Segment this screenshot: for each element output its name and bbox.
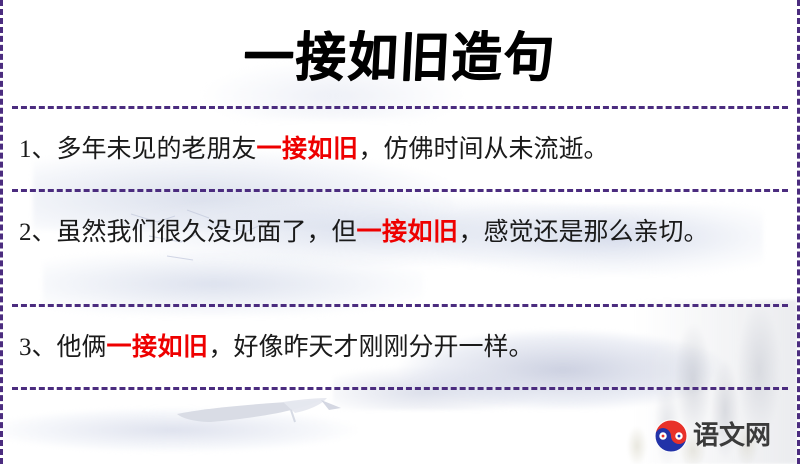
list-item: 3、他俩一接如旧，好像昨天才刚刚分开一样。	[3, 307, 797, 387]
divider-after-sentence-1	[12, 189, 788, 192]
ink-wash-shoal-watermark	[0, 404, 413, 464]
list-item: 1、多年未见的老朋友一接如旧，仿佛时间从未流逝。	[3, 109, 797, 189]
sentence-number: 2、	[19, 219, 57, 246]
divider-after-sentence-2	[12, 304, 788, 307]
sentence-text-after: ，好像昨天才刚刚分开一样。	[209, 334, 534, 361]
divider-top	[12, 106, 788, 109]
sentence-text-after: ，感觉还是那么亲切。	[459, 219, 709, 246]
sentence-number: 1、	[19, 136, 57, 163]
ink-wash-boat-watermark	[171, 398, 351, 432]
yuwen-taiji-logo-icon	[654, 419, 688, 453]
slide-canvas: 一接如旧造句 1、多年未见的老朋友一接如旧，仿佛时间从未流逝。 2、虽然我们很久…	[0, 0, 800, 464]
sentence-text-before: 多年未见的老朋友	[57, 136, 257, 163]
highlighted-idiom: 一接如旧	[357, 219, 459, 246]
page-title: 一接如旧造句	[242, 15, 558, 91]
sentence-number: 3、	[19, 334, 57, 361]
title-area: 一接如旧造句	[3, 0, 797, 106]
sentence-text-before: 虽然我们很久没见面了，但	[57, 219, 357, 246]
site-logo[interactable]: 语文网	[654, 419, 771, 453]
sentence-list: 1、多年未见的老朋友一接如旧，仿佛时间从未流逝。 2、虽然我们很久没见面了，但一…	[3, 109, 797, 390]
highlighted-idiom: 一接如旧	[107, 334, 209, 361]
list-item: 2、虽然我们很久没见面了，但一接如旧，感觉还是那么亲切。	[3, 192, 797, 304]
highlighted-idiom: 一接如旧	[257, 136, 359, 163]
site-logo-text: 语文网	[693, 423, 771, 449]
divider-bottom	[12, 387, 788, 390]
sentence-text-after: ，仿佛时间从未流逝。	[359, 136, 609, 163]
sentence-text-before: 他俩	[57, 334, 107, 361]
